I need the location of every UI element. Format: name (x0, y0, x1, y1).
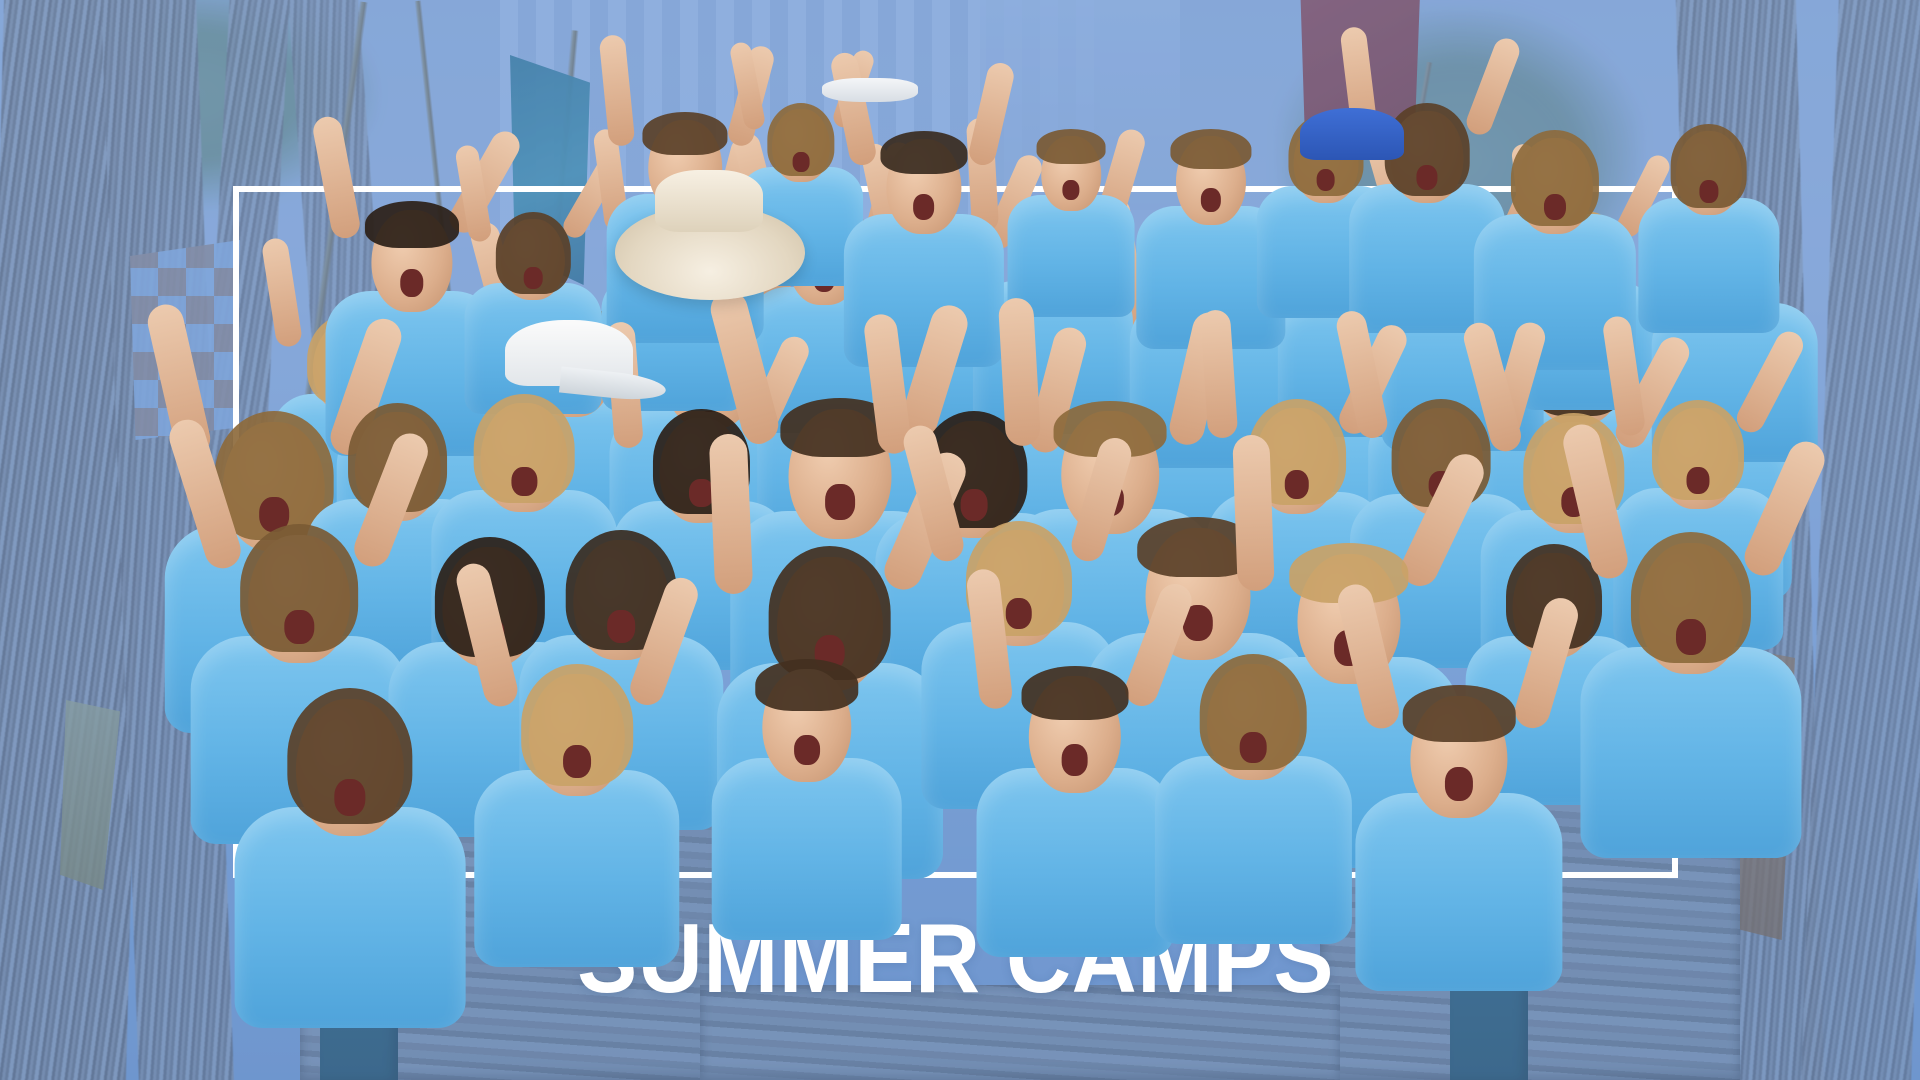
camper-mouth (1544, 194, 1566, 220)
camper-shirt (1355, 793, 1562, 991)
camper-mouth (1316, 169, 1335, 191)
camper (1001, 123, 1142, 319)
camper (463, 654, 691, 971)
camper-mouth (1699, 180, 1718, 203)
headband (822, 78, 918, 102)
camper-hair (1037, 129, 1106, 163)
camper-mouth (913, 194, 935, 220)
camper-mouth (563, 745, 591, 778)
camper-hair (643, 112, 728, 155)
camper-mouth (794, 735, 820, 766)
camper-mouth (1416, 165, 1437, 190)
camper (1344, 675, 1574, 995)
bandana (1300, 108, 1404, 160)
camper-hair (1021, 666, 1128, 719)
camper-shirt (712, 758, 902, 940)
camper-mouth (512, 467, 537, 497)
camper-shirt (1638, 198, 1779, 333)
camper (701, 650, 913, 944)
camper-mouth (334, 779, 365, 816)
camper-mouth (793, 152, 810, 172)
camper-mouth (284, 610, 313, 645)
camper-mouth (524, 267, 543, 289)
camper-hair (1170, 129, 1251, 170)
camper-shirt (1155, 756, 1351, 944)
camper (1144, 645, 1362, 948)
camper-mouth (608, 610, 636, 643)
camper-hair (1403, 685, 1516, 741)
cowboy-hat-crown (655, 170, 763, 232)
camper-shirt (1008, 195, 1135, 316)
camper-mouth (1062, 180, 1079, 200)
raised-arm (1232, 434, 1274, 591)
camper-mouth (1061, 744, 1088, 776)
camper-shirt (235, 807, 466, 1028)
camper-shirt (1581, 647, 1802, 859)
camper-mouth (1201, 188, 1221, 212)
camper-mouth (825, 484, 855, 519)
camper-mouth (400, 269, 423, 297)
camper-mouth (1676, 619, 1706, 654)
camper-hair (755, 659, 858, 711)
camper-mouth (1005, 598, 1032, 629)
camper-mouth (1687, 467, 1710, 494)
hero-banner: THE ULTIMATE GUIDE TO NEW BRAUNFELS SUMM… (0, 0, 1920, 1080)
camper-hair (365, 201, 459, 248)
camper (1568, 521, 1814, 862)
camper (835, 123, 1013, 370)
camper (1630, 117, 1787, 335)
camper-hair (880, 131, 967, 175)
camper (222, 676, 478, 1032)
camper-mouth (1285, 470, 1309, 499)
camper-shirt (474, 770, 679, 967)
raised-arm (709, 433, 753, 595)
camper-mouth (1240, 732, 1267, 763)
camper-mouth (1445, 767, 1473, 800)
